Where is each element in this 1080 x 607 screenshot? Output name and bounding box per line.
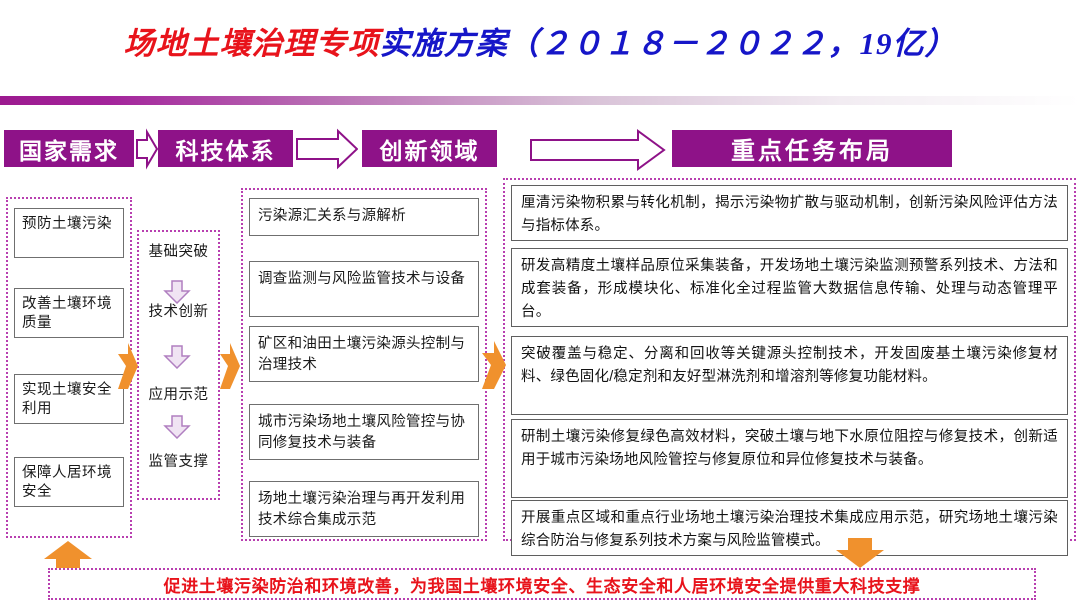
field-label: 城市污染场地土壤风险管控与协同修复技术与装备	[258, 412, 470, 454]
task-item[interactable]: 研发高精度土壤样品原位采集装备，开发场地土壤污染监测预警系列技术、方法和成套装备…	[511, 248, 1068, 327]
stage-banner-key-task-layout[interactable]: 重点任务布局	[672, 130, 952, 167]
page-title: 场地土壤治理专项实施方案（２０１８－２０２２，19亿）	[0, 20, 1080, 68]
stage-banner-tech-system[interactable]: 科技体系	[158, 130, 293, 167]
task-item[interactable]: 开展重点区域和重点行业场地土壤污染治理技术集成应用示范，研究场地土壤污染综合防治…	[511, 500, 1068, 556]
summary-banner: 促进土壤污染防治和环境改善，为我国土壤环境安全、生态安全和人居环境安全提供重大科…	[48, 568, 1036, 600]
stage-banner-national-demand[interactable]: 国家需求	[4, 130, 134, 167]
stage-banner-innovation-field[interactable]: 创新领域	[362, 130, 497, 167]
arrow-down-outline-icon	[163, 345, 191, 369]
stage-label: 科技体系	[176, 132, 276, 166]
need-label: 改善土壤环境质量	[22, 295, 116, 333]
field-item[interactable]: 矿区和油田土壤污染源头控制与治理技术	[249, 326, 479, 382]
field-label: 矿区和油田土壤污染源头控制与治理技术	[258, 334, 470, 376]
arrow-down-outline-icon	[163, 415, 191, 439]
task-text: 研制土壤污染修复绿色高效材料，突破土壤与地下水原位阻控与修复技术，创新适用于城市…	[521, 426, 1058, 472]
arrow-right-solid-icon	[220, 340, 240, 392]
field-item[interactable]: 调查监测与风险监管技术与设备	[249, 261, 479, 317]
need-item[interactable]: 保障人居环境安全	[14, 457, 124, 507]
task-text: 突破覆盖与稳定、分离和回收等关键源头控制技术，开发固废基土壤污染修复材料、绿色固…	[521, 343, 1058, 389]
arrow-right-outline-icon	[530, 128, 666, 172]
need-item[interactable]: 实现土壤安全利用	[14, 374, 124, 424]
arrow-right-outline-icon	[296, 128, 358, 170]
task-item[interactable]: 研制土壤污染修复绿色高效材料，突破土壤与地下水原位阻控与修复技术，创新适用于城市…	[511, 419, 1068, 498]
stage-label: 国家需求	[19, 132, 119, 166]
system-step[interactable]: 基础突破	[137, 240, 220, 261]
field-label: 污染源汇关系与源解析	[258, 206, 470, 227]
system-step[interactable]: 应用示范	[137, 383, 220, 404]
summary-banner-text: 促进土壤污染防治和环境改善，为我国土壤环境安全、生态安全和人居环境安全提供重大科…	[164, 572, 921, 597]
slide-canvas: 场地土壤治理专项实施方案（２０１８－２０２２，19亿） 国家需求 科技体系 创新…	[0, 0, 1080, 607]
arrow-right-outline-icon	[136, 128, 158, 170]
system-step-label: 技术创新	[149, 304, 209, 320]
need-item[interactable]: 改善土壤环境质量	[14, 288, 124, 338]
system-step[interactable]: 技术创新	[137, 300, 220, 321]
arrow-up-solid-icon	[44, 541, 92, 569]
task-text: 研发高精度土壤样品原位采集装备，开发场地土壤污染监测预警系列技术、方法和成套装备…	[521, 255, 1058, 324]
field-label: 调查监测与风险监管技术与设备	[258, 269, 470, 290]
field-item[interactable]: 污染源汇关系与源解析	[249, 198, 479, 236]
task-item[interactable]: 突破覆盖与稳定、分离和回收等关键源头控制技术，开发固废基土壤污染修复材料、绿色固…	[511, 336, 1068, 415]
system-step-label: 基础突破	[149, 244, 209, 260]
need-item[interactable]: 预防土壤污染	[14, 208, 124, 258]
system-step[interactable]: 监管支撑	[137, 450, 220, 471]
task-item[interactable]: 厘清污染物积累与转化机制，揭示污染物扩散与驱动机制，创新污染风险评估方法与指标体…	[511, 185, 1068, 241]
arrow-right-solid-icon	[118, 340, 138, 392]
system-step-label: 应用示范	[149, 387, 209, 403]
title-blue-part: 实施方案	[380, 26, 508, 61]
title-divider	[0, 96, 1080, 105]
stage-label: 重点任务布局	[731, 131, 893, 166]
task-text: 厘清污染物积累与转化机制，揭示污染物扩散与驱动机制，创新污染风险评估方法与指标体…	[521, 192, 1058, 238]
stage-label: 创新领域	[380, 132, 480, 166]
need-label: 保障人居环境安全	[22, 464, 116, 502]
need-label: 实现土壤安全利用	[22, 381, 116, 419]
field-item[interactable]: 城市污染场地土壤风险管控与协同修复技术与装备	[249, 404, 479, 460]
arrow-right-solid-icon	[482, 338, 506, 392]
system-step-label: 监管支撑	[149, 454, 209, 470]
title-red-part: 场地土壤治理专项	[124, 26, 380, 61]
title-date-range: （２０１８－２０２２，19亿）	[508, 26, 957, 61]
need-label: 预防土壤污染	[22, 215, 116, 234]
task-text: 开展重点区域和重点行业场地土壤污染治理技术集成应用示范，研究场地土壤污染综合防治…	[521, 507, 1058, 553]
field-label: 场地土壤污染治理与再开发利用技术综合集成示范	[258, 489, 470, 531]
arrow-down-solid-icon	[836, 538, 884, 568]
field-item[interactable]: 场地土壤污染治理与再开发利用技术综合集成示范	[249, 481, 479, 537]
